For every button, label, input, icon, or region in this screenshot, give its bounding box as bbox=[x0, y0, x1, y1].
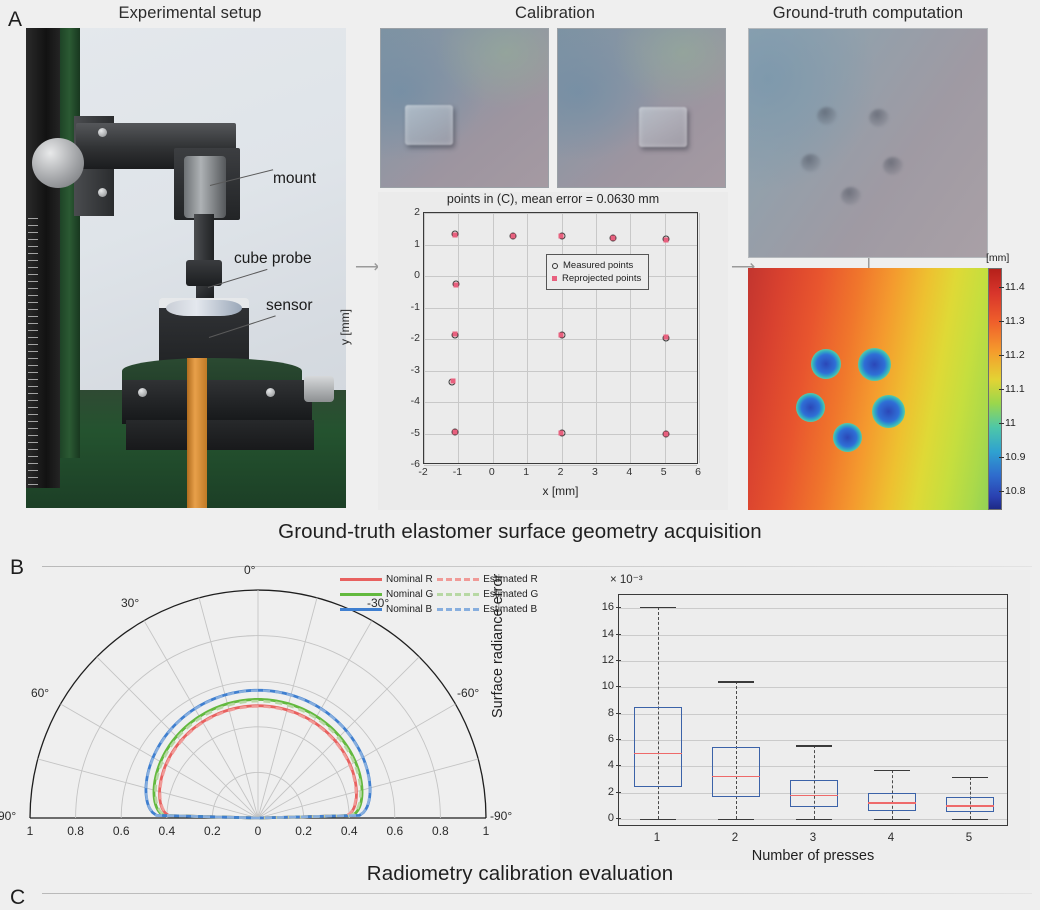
photo-sensor-elastomer bbox=[166, 300, 242, 316]
legend-line-estimated-b-icon bbox=[437, 608, 479, 611]
colorbar-tick: 11.3 bbox=[1005, 315, 1025, 327]
calibration-image-left bbox=[380, 28, 549, 188]
calibration-y-tick: -5 bbox=[400, 427, 420, 439]
gridline-vertical bbox=[458, 213, 459, 463]
gridline-horizontal bbox=[619, 608, 1007, 609]
polar-radial-tick: 0.6 bbox=[113, 824, 130, 838]
boxplot-upper-cap bbox=[874, 770, 910, 771]
boxplot-y-tick: 6 bbox=[592, 733, 614, 745]
boxplot-upper-cap bbox=[796, 745, 832, 746]
indentation-mark bbox=[817, 107, 837, 125]
gridline-vertical bbox=[699, 213, 700, 463]
boxplot-lower-cap bbox=[952, 819, 988, 820]
boxplot-median bbox=[712, 776, 760, 778]
boxplot-median bbox=[790, 795, 838, 797]
measured-points-marker-icon bbox=[552, 263, 558, 269]
boxplot-lower-cap bbox=[874, 819, 910, 820]
calibration-x-tick: 5 bbox=[661, 466, 667, 478]
polar-radial-tick: 0.2 bbox=[295, 824, 312, 838]
ground-truth-tactile-image bbox=[748, 28, 988, 258]
boxplot-x-tick: 5 bbox=[966, 832, 972, 844]
polar-radial-tick: 1 bbox=[483, 824, 490, 838]
flow-arrow-1: ⟶ bbox=[355, 258, 379, 275]
column-title-ground-truth: Ground-truth computation bbox=[748, 4, 988, 23]
polar-radial-tick: 0.4 bbox=[158, 824, 175, 838]
colorbar-tick: 10.8 bbox=[1005, 485, 1025, 497]
polar-radial-tick: 0 bbox=[255, 824, 262, 838]
calibration-plot-legend: Measured points Reprojected points bbox=[546, 254, 649, 290]
calibration-plot-axes bbox=[423, 212, 698, 464]
panel-letter-c: C bbox=[10, 886, 25, 910]
boxplot-median bbox=[634, 753, 682, 755]
gridline-horizontal bbox=[424, 402, 697, 403]
calibration-x-tick: 1 bbox=[523, 466, 529, 478]
legend-label-nominal-r: Nominal R bbox=[386, 572, 437, 587]
polar-plot-legend: Nominal R Estimated R Nominal G Estimate… bbox=[340, 572, 542, 617]
calibration-y-tick: 1 bbox=[400, 238, 420, 250]
gridline-vertical bbox=[493, 213, 494, 463]
photo-flex-cable bbox=[187, 358, 207, 508]
ground-truth-depth-map bbox=[748, 268, 988, 510]
ground-truth-image-background bbox=[749, 29, 987, 257]
photo-screw bbox=[98, 128, 107, 137]
boxplot-y-axis-label: Surface radiance error bbox=[490, 574, 506, 718]
legend-line-estimated-g-icon bbox=[437, 593, 479, 596]
legend-label-nominal-b: Nominal B bbox=[386, 602, 437, 617]
reprojected-point bbox=[511, 233, 516, 238]
photo-ruler-scale bbox=[28, 218, 38, 488]
polar-angle-tick: -90° bbox=[490, 809, 512, 823]
calibration-y-tick: -3 bbox=[400, 364, 420, 376]
cube-imprint bbox=[639, 107, 687, 147]
radiometry-polar-plot: Nominal R Estimated R Nominal G Estimate… bbox=[10, 570, 540, 860]
colorbar-unit-label: [mm] bbox=[986, 252, 1009, 264]
boxplot-y-tick: 16 bbox=[592, 601, 614, 613]
experimental-setup-photo bbox=[26, 28, 346, 508]
polar-grid-spoke bbox=[258, 759, 478, 818]
indentation-mark bbox=[869, 109, 889, 127]
depth-indentation bbox=[833, 423, 862, 452]
photo-mount-cylinder bbox=[184, 156, 226, 218]
cube-imprint bbox=[405, 105, 453, 145]
calibration-x-tick: 6 bbox=[695, 466, 701, 478]
boxplot-median bbox=[946, 805, 994, 807]
boxplot-axes bbox=[618, 594, 1008, 826]
polar-angle-tick: -30° bbox=[367, 596, 389, 610]
polar-radial-tick: 1 bbox=[27, 824, 34, 838]
depth-indentation bbox=[811, 349, 841, 379]
calibration-reprojection-plot: points in (C), mean error = 0.0630 mm x … bbox=[378, 192, 728, 510]
rule-panel-b bbox=[42, 566, 1032, 567]
boxplot-lower-cap bbox=[718, 819, 754, 820]
boxplot-box bbox=[946, 797, 994, 812]
calibration-x-tick: 4 bbox=[626, 466, 632, 478]
reprojected-point bbox=[610, 236, 615, 241]
boxplot-y-exponent: × 10⁻³ bbox=[610, 572, 643, 586]
photo-adjust-wheel bbox=[32, 138, 84, 188]
colorbar-tick: 11.4 bbox=[1005, 281, 1025, 293]
boxplot-lower-cap bbox=[640, 819, 676, 820]
gridline-horizontal bbox=[424, 308, 697, 309]
photo-stage-knob bbox=[304, 376, 334, 402]
depth-indentation bbox=[858, 348, 891, 381]
calibration-y-tick: -2 bbox=[400, 332, 420, 344]
polar-angle-tick: 90° bbox=[0, 809, 16, 823]
calibration-x-tick: -1 bbox=[453, 466, 462, 478]
legend-line-estimated-r-icon bbox=[437, 578, 479, 581]
photo-probe-shaft bbox=[194, 214, 214, 266]
reprojected-point bbox=[664, 237, 669, 242]
legend-label-measured: Measured points bbox=[563, 259, 633, 272]
boxplot-lower-cap bbox=[796, 819, 832, 820]
gridline-vertical bbox=[630, 213, 631, 463]
gridline-horizontal bbox=[424, 371, 697, 372]
photo-label-sensor: sensor bbox=[266, 297, 313, 315]
boxplot-y-tick: 14 bbox=[592, 628, 614, 640]
caption-panel-a: Ground-truth elastomer surface geometry … bbox=[0, 520, 1040, 544]
legend-label-nominal-g: Nominal G bbox=[386, 587, 437, 602]
reprojected-point bbox=[453, 282, 458, 287]
calibration-x-tick: 0 bbox=[489, 466, 495, 478]
calibration-x-tick: 2 bbox=[558, 466, 564, 478]
boxplot-x-tick: 2 bbox=[732, 832, 738, 844]
polar-radial-tick: 0.6 bbox=[386, 824, 403, 838]
gridline-horizontal bbox=[424, 213, 697, 214]
photo-label-mount: mount bbox=[273, 170, 316, 188]
calibration-y-tick: -6 bbox=[400, 458, 420, 470]
polar-angle-tick: -60° bbox=[457, 686, 479, 700]
boxplot-box bbox=[712, 747, 760, 798]
calibration-y-axis-label: y [mm] bbox=[338, 309, 352, 345]
reprojected-point bbox=[559, 332, 564, 337]
reprojected-point bbox=[453, 429, 458, 434]
photo-translation-stage bbox=[122, 380, 312, 424]
photo-stage-base bbox=[126, 420, 314, 450]
photo-probe-collar bbox=[186, 260, 222, 286]
boxplot-y-tick: 0 bbox=[592, 812, 614, 824]
indentation-mark bbox=[841, 187, 861, 205]
calibration-image-right bbox=[557, 28, 726, 188]
gridline-vertical bbox=[527, 213, 528, 463]
indentation-mark bbox=[883, 157, 903, 175]
calibration-y-tick: -1 bbox=[400, 301, 420, 313]
boxplot-upper-cap bbox=[640, 607, 676, 608]
boxplot-y-tick: 10 bbox=[592, 680, 614, 692]
gridline-vertical bbox=[424, 213, 425, 463]
polar-angle-tick: 30° bbox=[121, 596, 139, 610]
gridline-vertical bbox=[596, 213, 597, 463]
legend-label-reprojected: Reprojected points bbox=[562, 272, 641, 285]
boxplot-x-tick: 3 bbox=[810, 832, 816, 844]
reprojected-points-marker-icon bbox=[552, 276, 557, 281]
boxplot-median bbox=[868, 802, 916, 804]
depth-indentation bbox=[796, 393, 825, 422]
depth-indentation bbox=[872, 395, 905, 428]
calibration-x-axis-label: x [mm] bbox=[423, 484, 698, 498]
legend-row-measured: Measured points bbox=[552, 259, 641, 272]
reprojected-point bbox=[453, 331, 458, 336]
caption-panel-b: Radiometry calibration evaluation bbox=[0, 862, 1040, 886]
polar-radial-tick: 0.8 bbox=[432, 824, 449, 838]
indentation-mark bbox=[801, 154, 821, 172]
reprojected-point bbox=[559, 430, 564, 435]
depth-map-gradient bbox=[748, 268, 988, 510]
polar-radial-tick: 0.2 bbox=[204, 824, 221, 838]
legend-line-nominal-r-icon bbox=[340, 578, 382, 581]
reprojected-point bbox=[559, 234, 564, 239]
calibration-y-tick: -4 bbox=[400, 395, 420, 407]
column-title-calibration: Calibration bbox=[380, 4, 730, 23]
boxplot-y-tick: 8 bbox=[592, 707, 614, 719]
calibration-y-tick: 2 bbox=[400, 206, 420, 218]
panel-letter-a: A bbox=[8, 8, 22, 32]
legend-row-reprojected: Reprojected points bbox=[552, 272, 641, 285]
calibration-x-tick: 3 bbox=[592, 466, 598, 478]
boxplot-y-tick: 12 bbox=[592, 654, 614, 666]
photo-screw bbox=[266, 388, 275, 397]
boxplot-upper-cap bbox=[952, 777, 988, 778]
colorbar-tick: 11.1 bbox=[1005, 383, 1025, 395]
photo-screw bbox=[138, 388, 147, 397]
column-title-experimental-setup: Experimental setup bbox=[40, 4, 340, 23]
reprojected-point bbox=[450, 379, 455, 384]
calibration-y-tick: 0 bbox=[400, 269, 420, 281]
colorbar-tick: 11.2 bbox=[1005, 349, 1025, 361]
reprojected-point bbox=[664, 335, 669, 340]
reprojected-point bbox=[664, 431, 669, 436]
reprojected-point bbox=[453, 232, 458, 237]
boxplot-box bbox=[790, 780, 838, 806]
polar-grid-spoke bbox=[38, 759, 258, 818]
boxplot-y-tick: 4 bbox=[592, 759, 614, 771]
boxplot-box bbox=[634, 707, 682, 787]
colorbar-tick: 11 bbox=[1005, 417, 1016, 429]
gridline-horizontal bbox=[619, 661, 1007, 662]
polar-radial-tick: 0.4 bbox=[341, 824, 358, 838]
photo-label-cube-probe: cube probe bbox=[234, 250, 312, 268]
gridline-horizontal bbox=[619, 687, 1007, 688]
gridline-horizontal bbox=[424, 339, 697, 340]
photo-screw bbox=[98, 188, 107, 197]
surface-radiance-error-boxplot: × 10⁻³ Surface radiance error Number of … bbox=[560, 570, 1030, 870]
gridline-horizontal bbox=[424, 245, 697, 246]
gridline-horizontal bbox=[619, 635, 1007, 636]
boxplot-y-tick: 2 bbox=[592, 786, 614, 798]
polar-grid-spoke bbox=[199, 598, 258, 818]
polar-angle-tick: 60° bbox=[31, 686, 49, 700]
rule-panel-c bbox=[42, 893, 1032, 894]
colorbar-tick: 10.9 bbox=[1005, 451, 1025, 463]
polar-radial-tick: 0.8 bbox=[67, 824, 84, 838]
polar-angle-tick: 0° bbox=[244, 563, 255, 577]
boxplot-upper-cap bbox=[718, 681, 754, 682]
boxplot-x-tick: 1 bbox=[654, 832, 660, 844]
boxplot-x-tick: 4 bbox=[888, 832, 894, 844]
calibration-plot-title: points in (C), mean error = 0.0630 mm bbox=[378, 192, 728, 206]
